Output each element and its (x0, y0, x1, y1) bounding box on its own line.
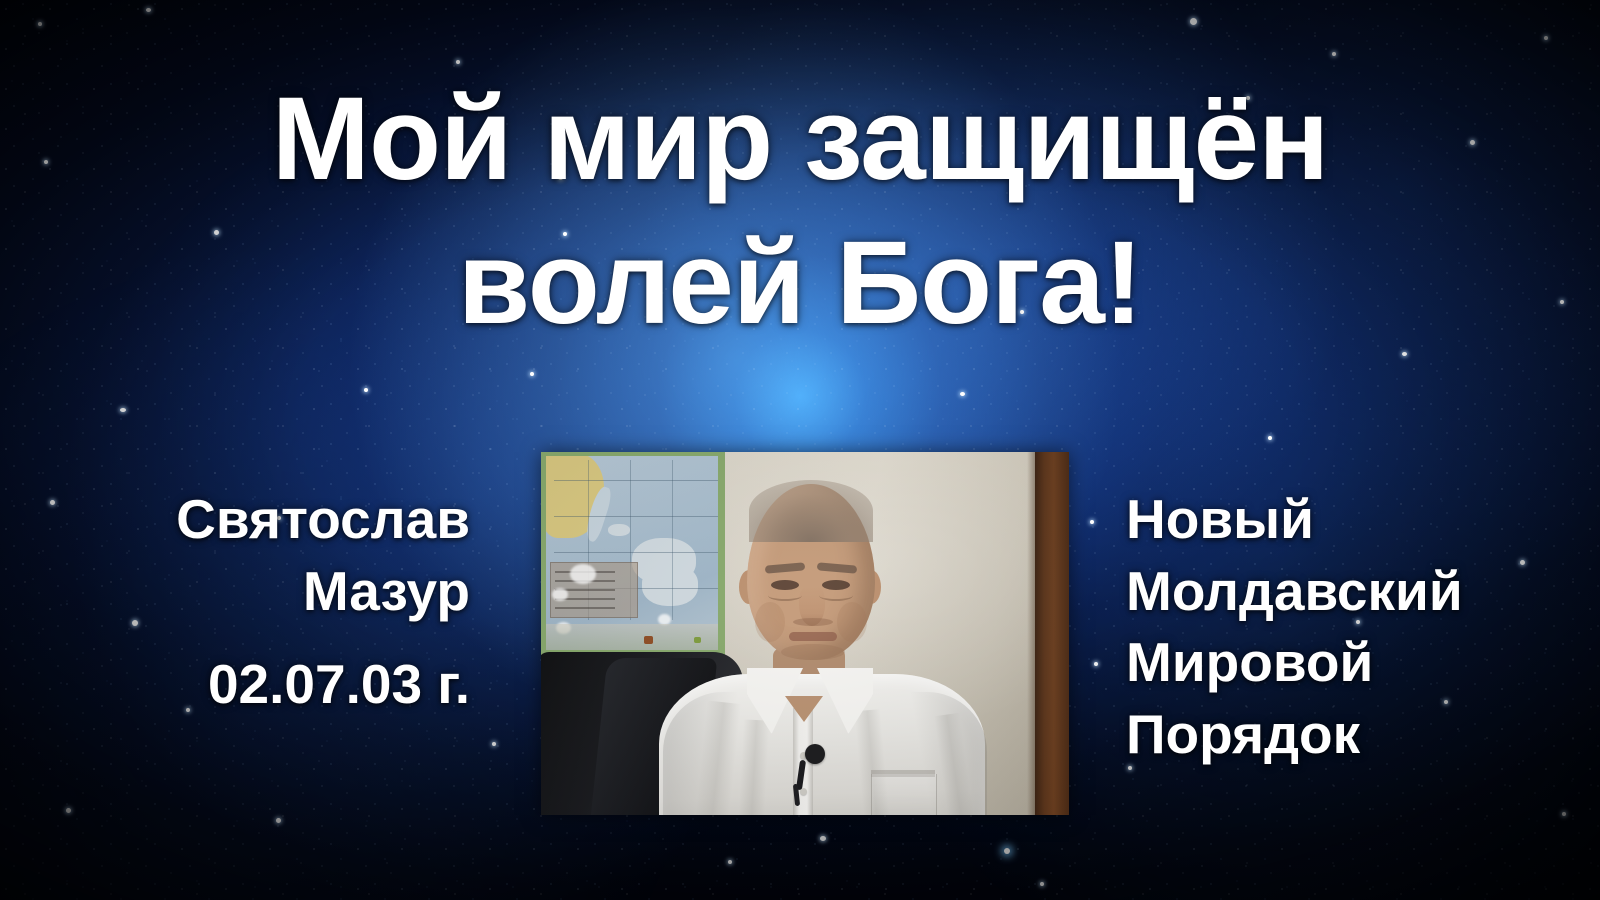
speaker-name-line-2: Мазур (60, 556, 470, 628)
cheek-right (837, 602, 867, 642)
under-eye-left (768, 590, 802, 601)
speaker-info-block: Святослав Мазур 02.07.03 г. (60, 484, 470, 721)
mouth (789, 632, 837, 641)
shirt-fold-2 (738, 719, 769, 815)
eye-right (822, 580, 850, 590)
title-line-2: волей Бога! (0, 212, 1600, 356)
speaker-name-line-1: Святослав (60, 484, 470, 556)
speaker-photo (541, 452, 1069, 815)
subject-info-block: Новый Молдавский Мировой Порядок (1126, 484, 1566, 770)
eye-left (771, 580, 799, 590)
hair (749, 480, 873, 542)
slide-canvas: Мой мир защищён волей Бога! Святослав Ма… (0, 0, 1600, 900)
subject-line-1: Новый (1126, 484, 1566, 556)
subject-line-3: Мировой (1126, 627, 1566, 699)
nose-shadow (793, 618, 833, 626)
person-figure (541, 452, 1069, 815)
subject-line-4: Порядок (1126, 699, 1566, 771)
shirt-pocket (871, 774, 937, 815)
slide-title: Мой мир защищён волей Бога! (0, 68, 1600, 356)
speaker-date: 02.07.03 г. (60, 649, 470, 721)
cheek-left (755, 602, 785, 642)
lavalier-microphone (805, 744, 825, 764)
title-line-1: Мой мир защищён (0, 68, 1600, 212)
subject-line-2: Молдавский (1126, 556, 1566, 628)
chin-shading (781, 644, 845, 660)
photo-scene (541, 452, 1069, 815)
left-block-spacer (60, 627, 470, 649)
